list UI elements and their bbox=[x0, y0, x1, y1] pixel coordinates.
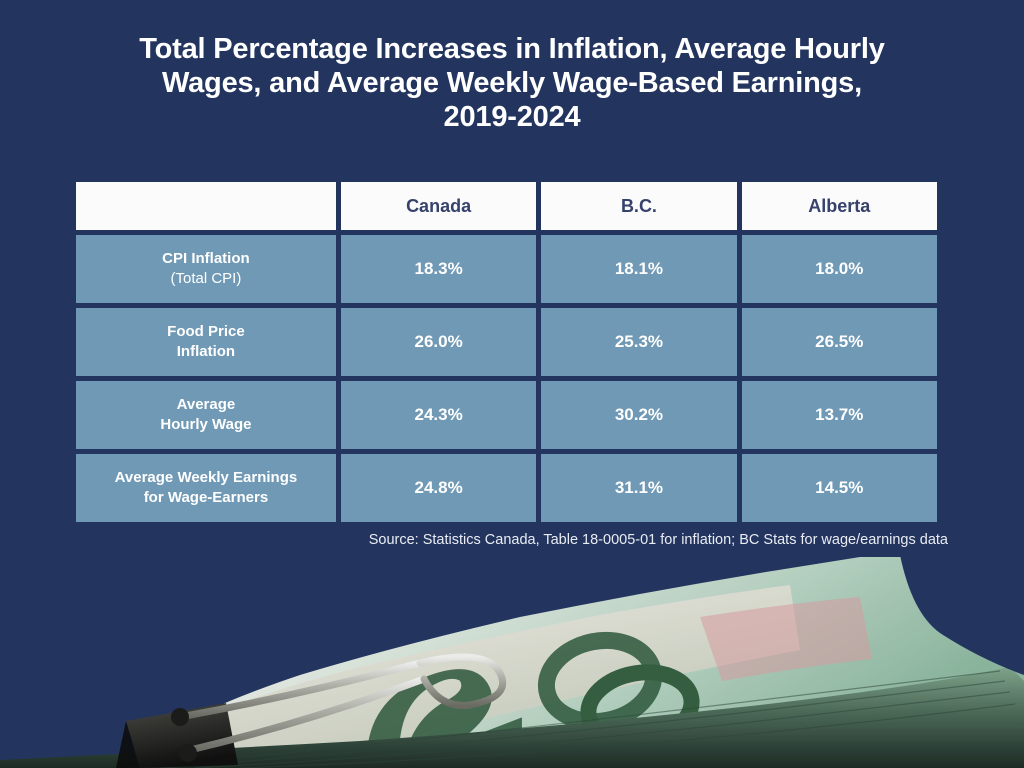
cell-food-canada: 26.0% bbox=[341, 308, 536, 376]
column-header-bc: B.C. bbox=[541, 182, 736, 230]
column-header-canada: Canada bbox=[341, 182, 536, 230]
page-title-line-2: Wages, and Average Weekly Wage-Based Ear… bbox=[40, 66, 984, 100]
photo-vignette bbox=[0, 555, 1024, 768]
table-header: Canada B.C. Alberta bbox=[76, 182, 937, 230]
cell-weekly-bc: 31.1% bbox=[541, 454, 736, 522]
table-row: CPI Inflation (Total CPI) 18.3% 18.1% 18… bbox=[76, 235, 937, 303]
money-photo bbox=[0, 555, 1024, 768]
banknote-stack-illustration bbox=[0, 555, 1024, 768]
row-label-cpi-inflation: CPI Inflation (Total CPI) bbox=[76, 235, 336, 303]
cell-hourly-alberta: 13.7% bbox=[742, 381, 937, 449]
cell-cpi-canada: 18.3% bbox=[341, 235, 536, 303]
cell-food-alberta: 26.5% bbox=[742, 308, 937, 376]
cell-food-bc: 25.3% bbox=[541, 308, 736, 376]
page-title: Total Percentage Increases in Inflation,… bbox=[0, 32, 1024, 134]
table-row: Average Hourly Wage 24.3% 30.2% 13.7% bbox=[76, 381, 937, 449]
row-label-main: Average bbox=[177, 396, 236, 413]
row-label-food-price-inflation: Food Price Inflation bbox=[76, 308, 336, 376]
row-label-main: CPI Inflation bbox=[162, 250, 250, 267]
cell-weekly-alberta: 14.5% bbox=[742, 454, 937, 522]
row-label-sub: Hourly Wage bbox=[84, 415, 328, 435]
table-body: CPI Inflation (Total CPI) 18.3% 18.1% 18… bbox=[76, 235, 937, 522]
cell-weekly-canada: 24.8% bbox=[341, 454, 536, 522]
table-row: Average Weekly Earnings for Wage-Earners… bbox=[76, 454, 937, 522]
cell-cpi-alberta: 18.0% bbox=[742, 235, 937, 303]
row-label-sub: for Wage-Earners bbox=[84, 488, 328, 508]
column-header-blank bbox=[76, 182, 336, 230]
row-label-sub: (Total CPI) bbox=[84, 269, 328, 289]
row-label-average-weekly-earnings: Average Weekly Earnings for Wage-Earners bbox=[76, 454, 336, 522]
row-label-average-hourly-wage: Average Hourly Wage bbox=[76, 381, 336, 449]
source-note: Source: Statistics Canada, Table 18-0005… bbox=[369, 532, 948, 548]
page-title-line-3: 2019-2024 bbox=[40, 100, 984, 134]
row-label-main: Food Price bbox=[167, 323, 245, 340]
inflation-wage-table: Canada B.C. Alberta CPI Inflation (Total… bbox=[71, 177, 942, 527]
cell-cpi-bc: 18.1% bbox=[541, 235, 736, 303]
cell-hourly-bc: 30.2% bbox=[541, 381, 736, 449]
table-header-row: Canada B.C. Alberta bbox=[76, 182, 937, 230]
column-header-alberta: Alberta bbox=[742, 182, 937, 230]
cell-hourly-canada: 24.3% bbox=[341, 381, 536, 449]
row-label-main: Average Weekly Earnings bbox=[115, 469, 298, 486]
row-label-sub: Inflation bbox=[84, 342, 328, 362]
page-title-line-1: Total Percentage Increases in Inflation,… bbox=[40, 32, 984, 66]
table-row: Food Price Inflation 26.0% 25.3% 26.5% bbox=[76, 308, 937, 376]
